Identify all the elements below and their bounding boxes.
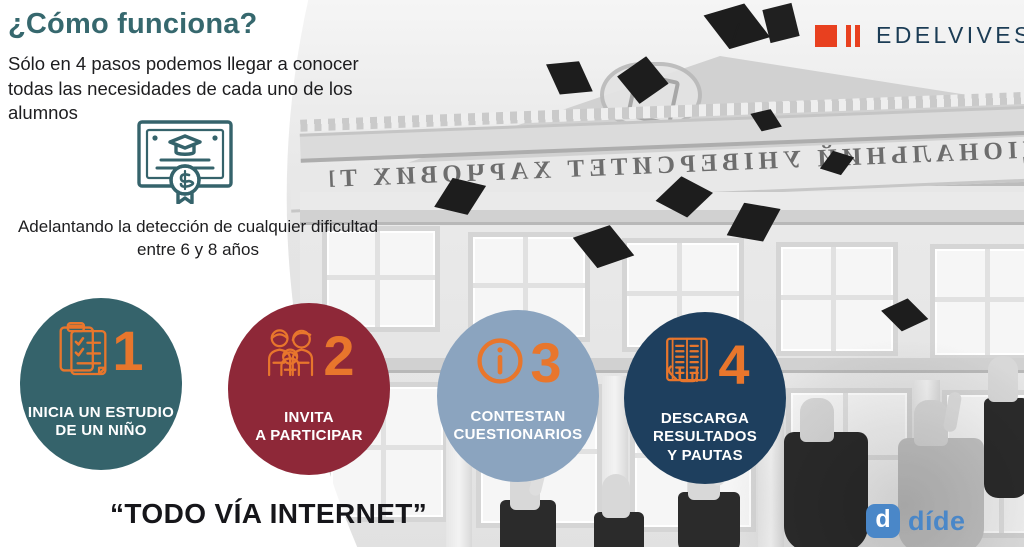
report-document-icon — [660, 336, 714, 395]
clipboard-checklist-icon — [58, 320, 108, 383]
step-circle-2[interactable]: 2 INVITA A PARTICIPAR — [228, 303, 390, 475]
step-label-4: DESCARGA RESULTADOS Y PAUTAS — [653, 410, 757, 465]
graduation-cap-icon — [612, 53, 672, 120]
diploma-certificate-icon — [133, 118, 237, 204]
family-icon — [263, 327, 319, 386]
raised-hand — [602, 474, 630, 518]
infographic-canvas: НАЦІОНАЛЬНИЙ УНІВЕРСИТЕТ ХАРЧОВИХ ТЕХ — [0, 0, 1024, 547]
edelvives-square-mark — [815, 25, 837, 47]
step-circle-4[interactable]: 4 DESCARGA RESULTADOS Y PAUTAS — [624, 312, 786, 484]
step-circle-3[interactable]: 3 CONTESTAN CUESTIONARIOS — [437, 310, 599, 482]
edelvives-bars-mark — [846, 25, 860, 47]
step-label-3: CONTESTAN CUESTIONARIOS — [454, 408, 583, 445]
step-number-1: 1 — [112, 323, 143, 379]
step-number-3: 3 — [530, 335, 561, 391]
info-circle-icon — [474, 335, 526, 392]
slogan-text: “TODO VÍA INTERNET” — [110, 498, 427, 530]
page-title: ¿Cómo funciona? — [8, 8, 257, 41]
lead-paragraph: Sólo en 4 pasos podemos llegar a conocer… — [8, 52, 400, 126]
edelvives-logo[interactable]: EDELVIVES — [815, 22, 1024, 49]
step-number-4: 4 — [718, 337, 749, 393]
graduation-cap-icon — [653, 172, 718, 232]
step-label-1: INICIA UN ESTUDIO DE UN NIÑO — [28, 404, 174, 441]
dide-logo[interactable]: d díde — [866, 504, 966, 538]
dide-wordmark: díde — [908, 506, 966, 537]
step-number-2: 2 — [323, 328, 354, 384]
dide-mark-icon: d — [866, 504, 900, 538]
step-circle-1[interactable]: 1 INICIA UN ESTUDIO DE UN NIÑO — [20, 298, 182, 470]
subtitle-paragraph: Adelantando la detección de cualquier di… — [8, 215, 388, 262]
step-label-2: INVITA A PARTICIPAR — [255, 409, 363, 446]
edelvives-wordmark: EDELVIVES — [876, 22, 1024, 49]
